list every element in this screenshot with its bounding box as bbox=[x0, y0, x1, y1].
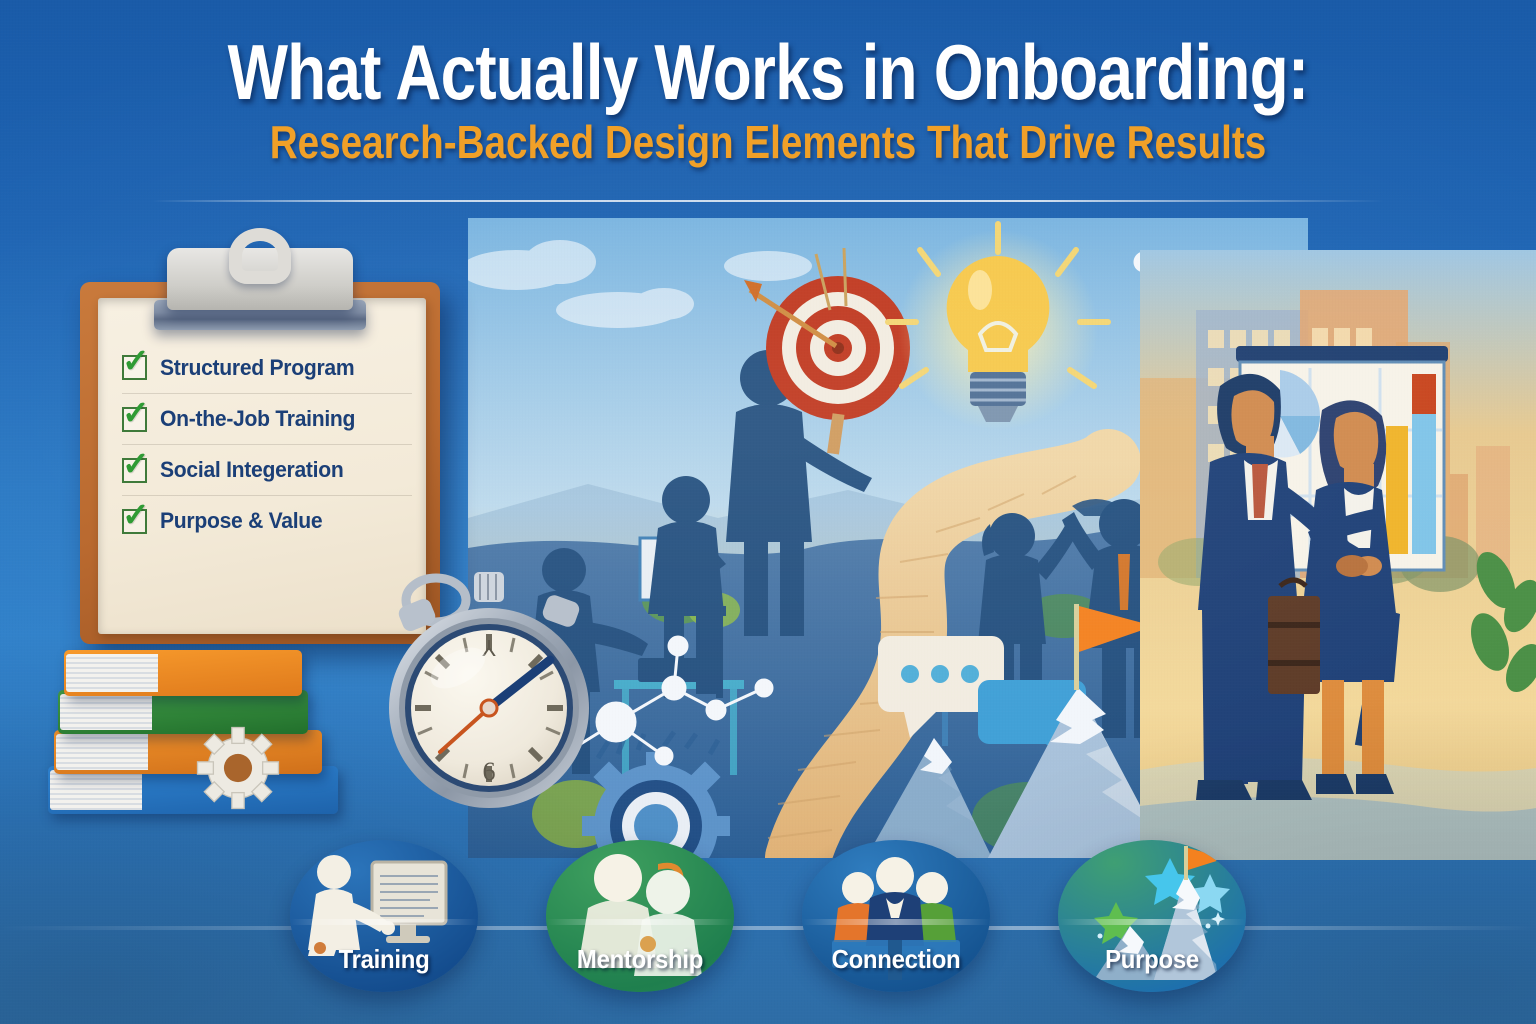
gear-icon bbox=[194, 724, 282, 812]
page-title: What Actually Works in Onboarding: bbox=[138, 32, 1398, 112]
pillar-icons-row: Training Mentorship bbox=[0, 840, 1536, 1024]
checkbox-icon[interactable]: ✓ bbox=[122, 509, 147, 534]
page-subtitle: Research-Backed Design Elements That Dri… bbox=[123, 118, 1413, 166]
pill-sheen bbox=[546, 919, 734, 925]
briefcase-icon bbox=[1268, 580, 1320, 694]
leg bbox=[1362, 680, 1384, 776]
flagpole bbox=[1074, 604, 1079, 690]
pillar-label: Training bbox=[298, 944, 471, 975]
pillar-label: Purpose bbox=[1066, 944, 1239, 975]
hand-hub bbox=[481, 700, 497, 716]
checklist-paper: ✓ Structured Program ✓ On-the-Job Traini… bbox=[98, 298, 426, 634]
pillar-purpose[interactable]: Purpose bbox=[1058, 840, 1246, 992]
checklist-item[interactable]: ✓ Social Integeration bbox=[122, 444, 412, 495]
checklist-item[interactable]: ✓ On-the-Job Training bbox=[122, 393, 412, 444]
book-orange-top bbox=[64, 650, 302, 696]
checklist-item-label: Social Integeration bbox=[160, 457, 343, 483]
checklist-item-label: Structured Program bbox=[160, 355, 354, 381]
check-icon: ✓ bbox=[122, 344, 150, 377]
right-button[interactable] bbox=[541, 593, 582, 629]
pillar-label: Connection bbox=[810, 944, 983, 975]
pillar-label: Mentorship bbox=[554, 944, 727, 975]
bubble-stand bbox=[942, 712, 948, 746]
book-pages bbox=[56, 734, 148, 770]
pillar-connection[interactable]: Connection bbox=[802, 840, 990, 992]
checklist-item-label: Purpose & Value bbox=[160, 508, 322, 534]
pill-sheen bbox=[1058, 919, 1246, 925]
book-pages bbox=[50, 770, 142, 810]
handshake-hands[interactable] bbox=[1336, 555, 1368, 577]
dial-number: 6 bbox=[483, 757, 496, 786]
tie bbox=[1118, 554, 1130, 610]
checkbox-icon[interactable]: ✓ bbox=[122, 458, 147, 483]
checklist-item[interactable]: ✓ Purpose & Value bbox=[122, 495, 412, 546]
handshake-illustration bbox=[1140, 250, 1536, 860]
handshake-scene-svg bbox=[1140, 250, 1536, 860]
leg bbox=[1322, 680, 1344, 776]
stars bbox=[1094, 858, 1230, 944]
pillar-training[interactable]: Training bbox=[290, 840, 478, 992]
infographic-canvas: ✓ Structured Program ✓ On-the-Job Traini… bbox=[0, 0, 1536, 1024]
checklist-item-label: On-the-Job Training bbox=[160, 406, 355, 432]
book-pages bbox=[66, 654, 158, 692]
check-icon: ✓ bbox=[122, 447, 150, 480]
stopwatch-icon: 6 ⅄ bbox=[378, 556, 600, 814]
checkbox-icon[interactable]: ✓ bbox=[122, 407, 147, 432]
header-block: What Actually Works in Onboarding: Resea… bbox=[0, 0, 1536, 218]
clipboard-clip-ring bbox=[229, 228, 291, 284]
pill-sheen bbox=[290, 919, 478, 925]
checklist-item[interactable]: ✓ Structured Program bbox=[122, 342, 412, 393]
pill-sheen bbox=[802, 919, 990, 925]
checkbox-icon[interactable]: ✓ bbox=[122, 355, 147, 380]
book-pages bbox=[60, 694, 152, 730]
check-icon: ✓ bbox=[122, 498, 150, 531]
book-stack bbox=[48, 638, 348, 828]
pillar-mentorship[interactable]: Mentorship bbox=[546, 840, 734, 992]
check-icon: ✓ bbox=[122, 396, 150, 429]
